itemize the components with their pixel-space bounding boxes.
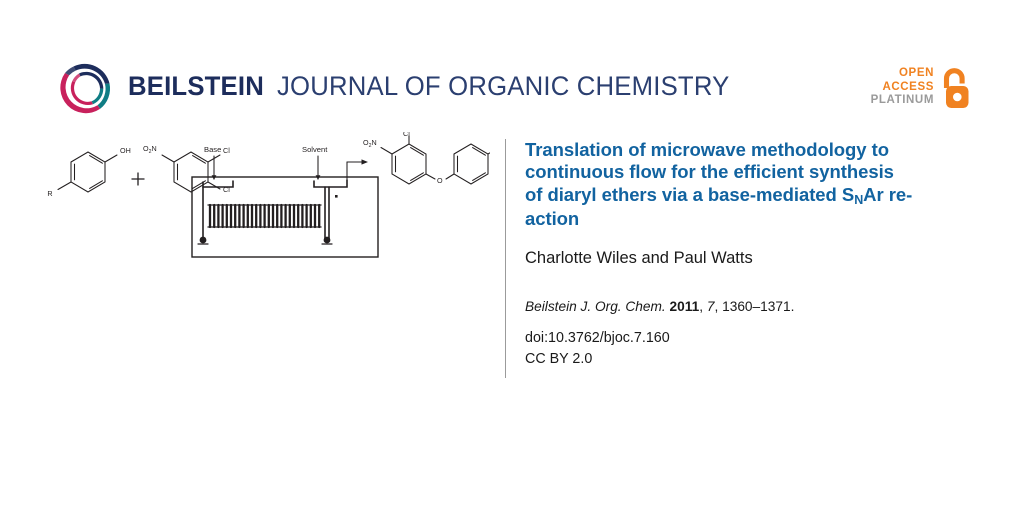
label-solvent-inlet: Solvent xyxy=(302,145,328,154)
article-license[interactable]: CC BY 2.0 xyxy=(525,350,995,370)
product-diaryl-ether xyxy=(381,136,490,184)
reaction-scheme-figure: R OH O2N Cl Cl xyxy=(40,132,490,277)
oa-line-open: OPEN xyxy=(871,67,934,81)
reactant-dichloronitrobenzene-ring xyxy=(162,152,220,192)
title-line-4: action xyxy=(525,208,579,229)
open-access-text: OPEN ACCESS PLATINUM xyxy=(871,67,934,109)
title-line-1: Translation of microwave methodology to xyxy=(525,139,889,160)
title-line-3-part-b: Ar re- xyxy=(863,184,912,205)
oa-line-platinum: PLATINUM xyxy=(871,94,934,108)
beilstein-spiral-logo-icon[interactable] xyxy=(57,58,117,118)
citation-sep-3: , xyxy=(714,299,722,314)
plus-sign-glyph xyxy=(132,173,144,185)
article-citation: Beilstein J. Org. Chem. 2011, 7, 1360–13… xyxy=(525,298,995,315)
open-padlock-icon xyxy=(939,66,972,110)
masthead: BEILSTEIN JOURNAL OF ORGANIC CHEMISTRY O… xyxy=(0,0,1024,138)
oa-line-access: ACCESS xyxy=(871,81,934,95)
label-nitro-product: O2N xyxy=(363,138,377,149)
title-line-2: continuous flow for the efficient synthe… xyxy=(525,161,894,182)
article-authors[interactable]: Charlotte Wiles and Paul Watts xyxy=(525,248,995,268)
graphical-abstract[interactable]: R OH O2N Cl Cl xyxy=(40,132,490,277)
reactant-phenol-ring xyxy=(58,152,117,192)
open-access-badge[interactable]: OPEN ACCESS PLATINUM xyxy=(884,58,972,118)
label-ether-oxygen: O xyxy=(437,176,443,185)
wordmark-beilstein: BEILSTEIN xyxy=(128,71,264,102)
citation-sep-2: , xyxy=(699,299,707,314)
journal-wordmark: BEILSTEIN JOURNAL OF ORGANIC CHEMISTRY xyxy=(128,70,744,102)
label-oh: OH xyxy=(120,146,131,155)
citation-year: 2011 xyxy=(670,299,700,314)
citation-journal: Beilstein J. Org. Chem. xyxy=(525,299,666,314)
wordmark-journal-of-organic-chemistry: JOURNAL OF ORGANIC CHEMISTRY xyxy=(277,71,729,102)
serpentine-channel xyxy=(208,205,321,227)
title-subscript-n: N xyxy=(854,193,863,207)
title-line-3-part-a: of diaryl ethers via a base-mediated S xyxy=(525,184,854,205)
label-nitro-reactant: O2N xyxy=(143,144,157,155)
label-base-inlet: Base xyxy=(204,145,221,154)
citation-pages: 1360–1371. xyxy=(722,299,794,314)
label-cl-reactant-1: Cl xyxy=(223,146,230,155)
article-title[interactable]: Translation of microwave methodology to … xyxy=(525,139,995,230)
label-cl-product: Cl xyxy=(403,132,410,138)
content-divider xyxy=(505,139,506,378)
label-r-reactant: R xyxy=(47,189,52,198)
article-doi[interactable]: doi:10.3762/bjoc.7.160 xyxy=(525,329,995,349)
microreactor-chip xyxy=(192,156,378,257)
article-info: Translation of microwave methodology to … xyxy=(525,139,995,369)
